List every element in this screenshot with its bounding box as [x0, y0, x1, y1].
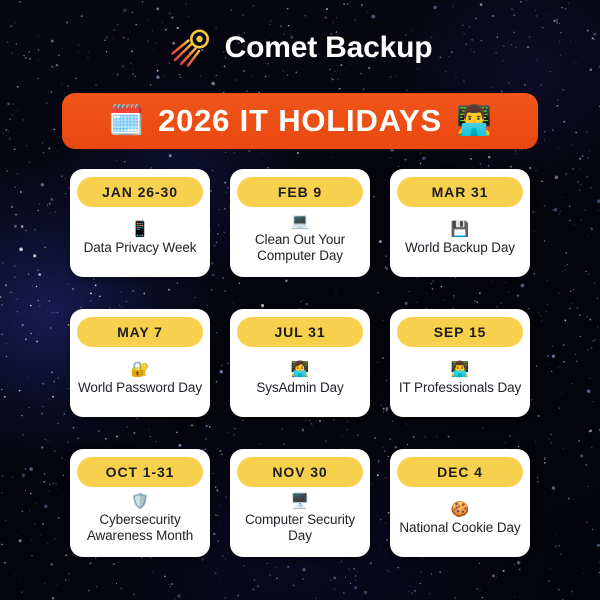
desktop-computer-icon: 🖥️ [291, 494, 310, 511]
date-pill: FEB 9 [237, 177, 363, 207]
floppy-disk-icon: 💾 [451, 222, 470, 239]
card-body: 👨‍💻 IT Professionals Day [397, 347, 523, 410]
date-pill: NOV 30 [237, 457, 363, 487]
holiday-card: MAR 31 💾 World Backup Day [390, 169, 530, 277]
page-title: 2026 IT HOLIDAYS [158, 103, 442, 139]
date-label: NOV 30 [272, 464, 327, 480]
date-label: SEP 15 [434, 324, 487, 340]
card-body: 🛡️ Cybersecurity Awareness Month [77, 487, 203, 550]
brand-header: Comet Backup [0, 22, 600, 74]
holiday-card: DEC 4 🍪 National Cookie Day [390, 449, 530, 557]
date-label: DEC 4 [437, 464, 483, 480]
card-body: 🔐 World Password Day [77, 347, 203, 410]
poster-canvas: Comet Backup 🗓️ 2026 IT HOLIDAYS 👨‍💻 JAN… [0, 0, 600, 600]
holiday-card: JUL 31 👩‍💻 SysAdmin Day [230, 309, 370, 417]
holiday-card: OCT 1-31 🛡️ Cybersecurity Awareness Mont… [70, 449, 210, 557]
card-body: 📱 Data Privacy Week [77, 207, 203, 270]
date-label: MAY 7 [117, 324, 163, 340]
holiday-name: Computer Security Day [237, 512, 363, 544]
holiday-name: World Password Day [77, 380, 203, 396]
date-pill: MAR 31 [397, 177, 523, 207]
locked-with-key-icon: 🔐 [131, 362, 150, 379]
date-label: OCT 1-31 [106, 464, 175, 480]
date-pill: SEP 15 [397, 317, 523, 347]
date-label: FEB 9 [278, 184, 322, 200]
date-label: MAR 31 [432, 184, 489, 200]
date-pill: JUL 31 [237, 317, 363, 347]
title-banner: 🗓️ 2026 IT HOLIDAYS 👨‍💻 [62, 93, 538, 149]
cookie-icon: 🍪 [451, 502, 470, 519]
date-pill: MAY 7 [77, 317, 203, 347]
holiday-card: JAN 26-30 📱 Data Privacy Week [70, 169, 210, 277]
card-body: 🖥️ Computer Security Day [237, 487, 363, 550]
shield-icon: 🛡️ [131, 494, 150, 511]
holiday-name: Data Privacy Week [83, 240, 198, 256]
card-body: 💻 Clean Out Your Computer Day [237, 207, 363, 270]
holiday-name: Clean Out Your Computer Day [237, 232, 363, 264]
holiday-card: SEP 15 👨‍💻 IT Professionals Day [390, 309, 530, 417]
holiday-grid: JAN 26-30 📱 Data Privacy Week FEB 9 💻 Cl… [70, 169, 530, 557]
laptop-computer-icon: 💻 [291, 214, 310, 231]
man-technologist-icon: 👨‍💻 [451, 362, 470, 379]
card-body: 💾 World Backup Day [397, 207, 523, 270]
holiday-name: Cybersecurity Awareness Month [77, 512, 203, 544]
holiday-card: MAY 7 🔐 World Password Day [70, 309, 210, 417]
comet-icon [168, 25, 214, 71]
date-label: JUL 31 [274, 324, 325, 340]
brand-name: Comet Backup [225, 31, 433, 65]
mobile-phone-icon: 📱 [131, 222, 150, 239]
date-pill: JAN 26-30 [77, 177, 203, 207]
holiday-name: World Backup Day [404, 240, 516, 256]
holiday-card: FEB 9 💻 Clean Out Your Computer Day [230, 169, 370, 277]
spiral-calendar-icon: 🗓️ [108, 107, 144, 136]
card-body: 🍪 National Cookie Day [397, 487, 523, 550]
holiday-card: NOV 30 🖥️ Computer Security Day [230, 449, 370, 557]
holiday-name: IT Professionals Day [398, 380, 522, 396]
woman-technologist-icon: 👩‍💻 [291, 362, 310, 379]
holiday-name: SysAdmin Day [255, 380, 344, 396]
date-pill: DEC 4 [397, 457, 523, 487]
date-pill: OCT 1-31 [77, 457, 203, 487]
technologist-icon: 👨‍💻 [456, 107, 492, 136]
holiday-name: National Cookie Day [398, 520, 521, 536]
date-label: JAN 26-30 [102, 184, 178, 200]
card-body: 👩‍💻 SysAdmin Day [237, 347, 363, 410]
